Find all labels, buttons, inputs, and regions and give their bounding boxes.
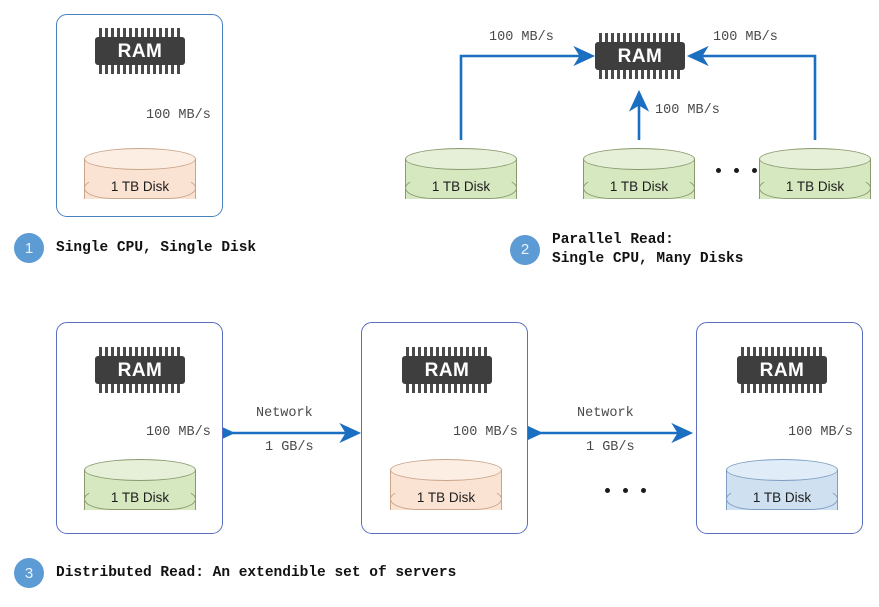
disk-cylinder-p1: 1 TB Disk [84, 148, 196, 210]
caption-text-1: Single CPU, Single Disk [56, 239, 256, 258]
disk-cylinder-p2-left: 1 TB Disk [405, 148, 517, 210]
caption-panel-2: 2 Parallel Read: Single CPU, Many Disks [510, 231, 743, 268]
disk-top-ellipse [583, 148, 695, 170]
disk-top-ellipse [390, 459, 502, 481]
badge-2: 2 [510, 235, 540, 265]
caption-panel-1: 1 Single CPU, Single Disk [14, 233, 256, 263]
ram-chip-body: RAM [95, 356, 185, 384]
network-label-1: Network [256, 406, 313, 421]
ram-chip-p2: RAM [595, 33, 685, 79]
badge-3: 3 [14, 558, 44, 588]
disk-top-ellipse [726, 459, 838, 481]
ram-pins-bottom-icon [741, 384, 823, 393]
ram-chip-body: RAM [595, 42, 685, 70]
ram-pins-top-icon [599, 33, 681, 42]
disk-label: 1 TB Disk [583, 174, 695, 198]
ellipsis-p2 [716, 168, 757, 173]
ellipsis-p3 [605, 488, 646, 493]
rate-label-p2-middle: 100 MB/s [655, 103, 720, 118]
disk-label: 1 TB Disk [405, 174, 517, 198]
disk-top-ellipse [759, 148, 871, 170]
ram-pins-top-icon [99, 347, 181, 356]
disk-cylinder-p2-right: 1 TB Disk [759, 148, 871, 210]
disk-label: 1 TB Disk [759, 174, 871, 198]
network-speed-1: 1 GB/s [265, 440, 314, 455]
caption-text-3: Distributed Read: An extendible set of s… [56, 564, 456, 583]
ram-label: RAM [425, 361, 470, 380]
ram-chip-body: RAM [95, 37, 185, 65]
disk-top-ellipse [84, 148, 196, 170]
ram-pins-bottom-icon [99, 384, 181, 393]
caption-text-2: Parallel Read: Single CPU, Many Disks [552, 231, 743, 268]
ram-label: RAM [760, 361, 805, 380]
ram-chip-p1: RAM [95, 28, 185, 74]
ram-pins-bottom-icon [99, 65, 181, 74]
disk-cylinder-s1: 1 TB Disk [84, 459, 196, 521]
disk-label: 1 TB Disk [84, 485, 196, 509]
rate-label-p2-left: 100 MB/s [489, 30, 554, 45]
network-label-2: Network [577, 406, 634, 421]
ram-chip-body: RAM [402, 356, 492, 384]
disk-top-ellipse [84, 459, 196, 481]
diagram-canvas: RAM 1 TB Disk 100 MB/s 1 Single CPU, Sin… [0, 0, 879, 607]
ram-pins-top-icon [741, 347, 823, 356]
badge-1: 1 [14, 233, 44, 263]
arrow-right-disk-to-ram-p2 [690, 56, 815, 140]
rate-label-s3: 100 MB/s [788, 425, 853, 440]
disk-cylinder-s3: 1 TB Disk [726, 459, 838, 521]
ram-label: RAM [618, 47, 663, 66]
ram-pins-top-icon [406, 347, 488, 356]
disk-cylinder-s2: 1 TB Disk [390, 459, 502, 521]
disk-cylinder-p2-middle: 1 TB Disk [583, 148, 695, 210]
disk-label: 1 TB Disk [390, 485, 502, 509]
disk-top-ellipse [405, 148, 517, 170]
caption-panel-3: 3 Distributed Read: An extendible set of… [14, 558, 456, 588]
ram-label: RAM [118, 361, 163, 380]
rate-label-s1: 100 MB/s [146, 425, 211, 440]
ram-chip-s1: RAM [95, 347, 185, 393]
disk-label: 1 TB Disk [84, 174, 196, 198]
ram-label: RAM [118, 42, 163, 61]
ram-pins-bottom-icon [599, 70, 681, 79]
rate-label-p1: 100 MB/s [146, 108, 211, 123]
ram-chip-s3: RAM [737, 347, 827, 393]
rate-label-s2: 100 MB/s [453, 425, 518, 440]
rate-label-p2-right: 100 MB/s [713, 30, 778, 45]
arrow-left-disk-to-ram-p2 [461, 56, 592, 140]
ram-chip-body: RAM [737, 356, 827, 384]
ram-chip-s2: RAM [402, 347, 492, 393]
network-speed-2: 1 GB/s [586, 440, 635, 455]
ram-pins-bottom-icon [406, 384, 488, 393]
disk-label: 1 TB Disk [726, 485, 838, 509]
ram-pins-top-icon [99, 28, 181, 37]
